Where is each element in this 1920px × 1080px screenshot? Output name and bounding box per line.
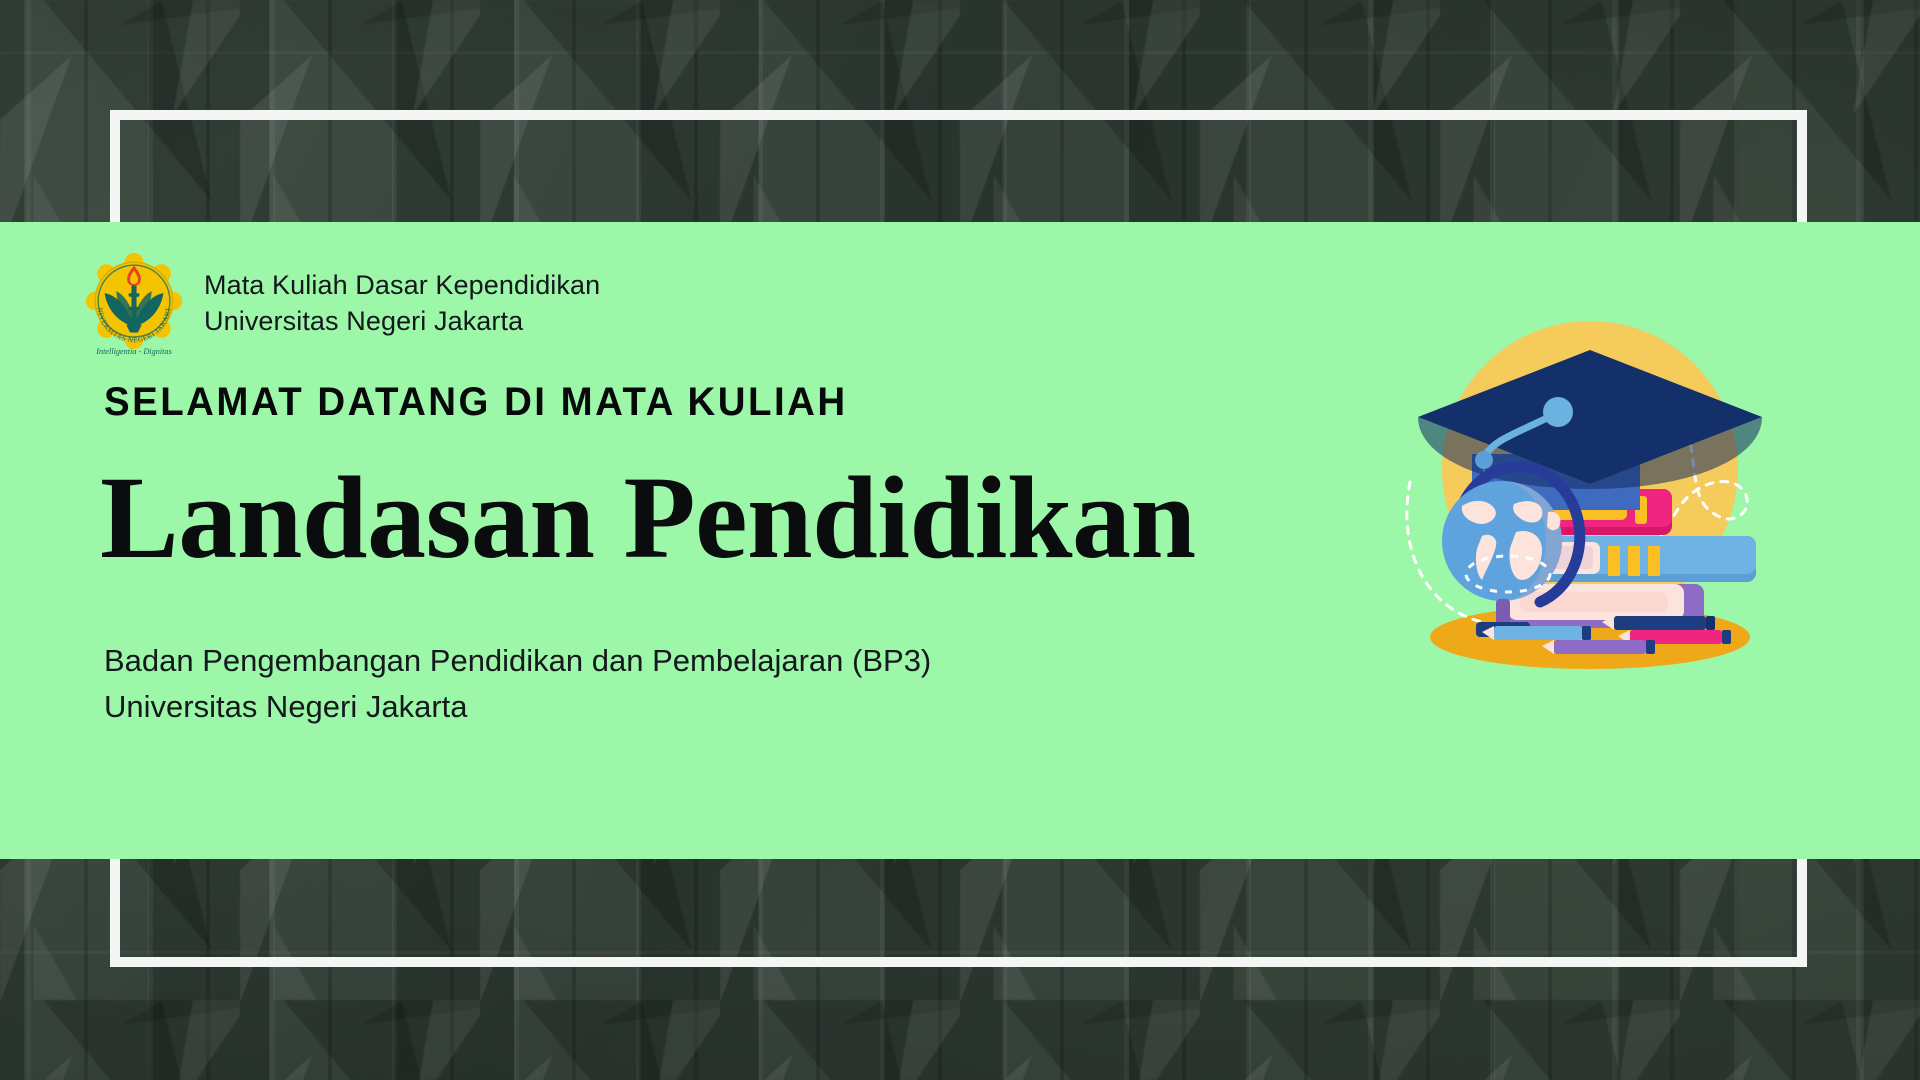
tassel-bead: [1475, 451, 1493, 469]
pencil-light-blue: [1482, 626, 1591, 640]
green-content-panel: UNIVERSITAS NEGERI JAKARTA Intelligentia…: [0, 222, 1920, 859]
brand-text-block: Mata Kuliah Dasar Kependidikan Universit…: [204, 268, 600, 339]
pencil-navy: [1602, 616, 1715, 630]
unj-logo: UNIVERSITAS NEGERI JAKARTA Intelligentia…: [80, 250, 188, 358]
brand-line-course: Mata Kuliah Dasar Kependidikan: [204, 268, 600, 304]
brand-header: UNIVERSITAS NEGERI JAKARTA Intelligentia…: [80, 250, 1200, 358]
kicker-heading: SELAMAT DATANG DI MATA KULIAH: [104, 380, 1156, 425]
logo-motto-text: Intelligentia - Dignitas: [95, 347, 171, 356]
tassel-knob: [1543, 397, 1573, 427]
page-title: Landasan Pendidikan: [100, 457, 1200, 580]
pencil-purple: [1542, 640, 1655, 654]
subtitle-block: Badan Pengembangan Pendidikan dan Pembel…: [104, 638, 1200, 730]
text-column: UNIVERSITAS NEGERI JAKARTA Intelligentia…: [80, 250, 1200, 729]
brand-line-university: Universitas Negeri Jakarta: [204, 304, 600, 340]
subtitle-line-department: Badan Pengembangan Pendidikan dan Pembel…: [104, 638, 1200, 684]
education-illustration: [1390, 284, 1790, 684]
subtitle-line-university: Universitas Negeri Jakarta: [104, 684, 1200, 730]
book-blue: [1528, 536, 1756, 582]
